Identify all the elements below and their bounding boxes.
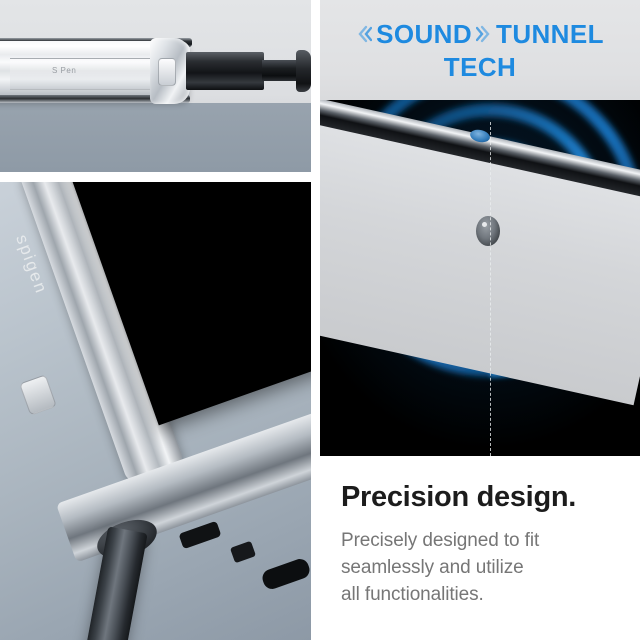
usb-port-cutout (178, 521, 221, 549)
caption-body-line-3: all functionalities. (341, 582, 539, 609)
mic-cutout (230, 541, 256, 563)
header-line-2: TECH (320, 51, 640, 84)
caption-body-line-1: Precisely designed to fit (341, 528, 539, 555)
case-clip (158, 58, 176, 86)
caption-title: Precision design. (341, 481, 576, 514)
speaker-slot-cutout (260, 557, 311, 592)
header-word-sound: SOUND (376, 20, 472, 49)
sound-waves-right-icon (476, 23, 492, 45)
panel-header: SOUND TUNNEL TECH (320, 0, 640, 104)
sound-waves-left-icon (356, 23, 372, 45)
side-button-cutout (19, 374, 57, 415)
case-etch-label: S Pen (52, 66, 98, 78)
panel-case-corner-pen: spigen (0, 182, 311, 640)
product-marketing-image: S Pen spigen (0, 0, 640, 640)
panel-sound-tunnel (320, 100, 640, 456)
caption-body-line-2: seamlessly and utilize (341, 555, 539, 582)
sensor-highlight (482, 222, 487, 227)
sensor-dot (476, 216, 500, 246)
left-column: S Pen spigen (0, 0, 311, 640)
surface-shadow (0, 103, 311, 172)
stylus-end-cap (296, 50, 311, 92)
header-text-wrap: SOUND TUNNEL TECH (320, 20, 640, 83)
panel-caption: Precision design. Precisely designed to … (320, 456, 640, 640)
stylus-shaft (186, 52, 264, 90)
header-line-1: SOUND TUNNEL (320, 20, 640, 49)
alignment-guide-line (490, 122, 491, 456)
panel-stylus-insert: S Pen (0, 0, 311, 172)
header-word-tunnel: TUNNEL (496, 20, 604, 49)
caption-body: Precisely designed to fit seamlessly and… (341, 528, 539, 609)
right-column: SOUND TUNNEL TECH (320, 0, 640, 640)
